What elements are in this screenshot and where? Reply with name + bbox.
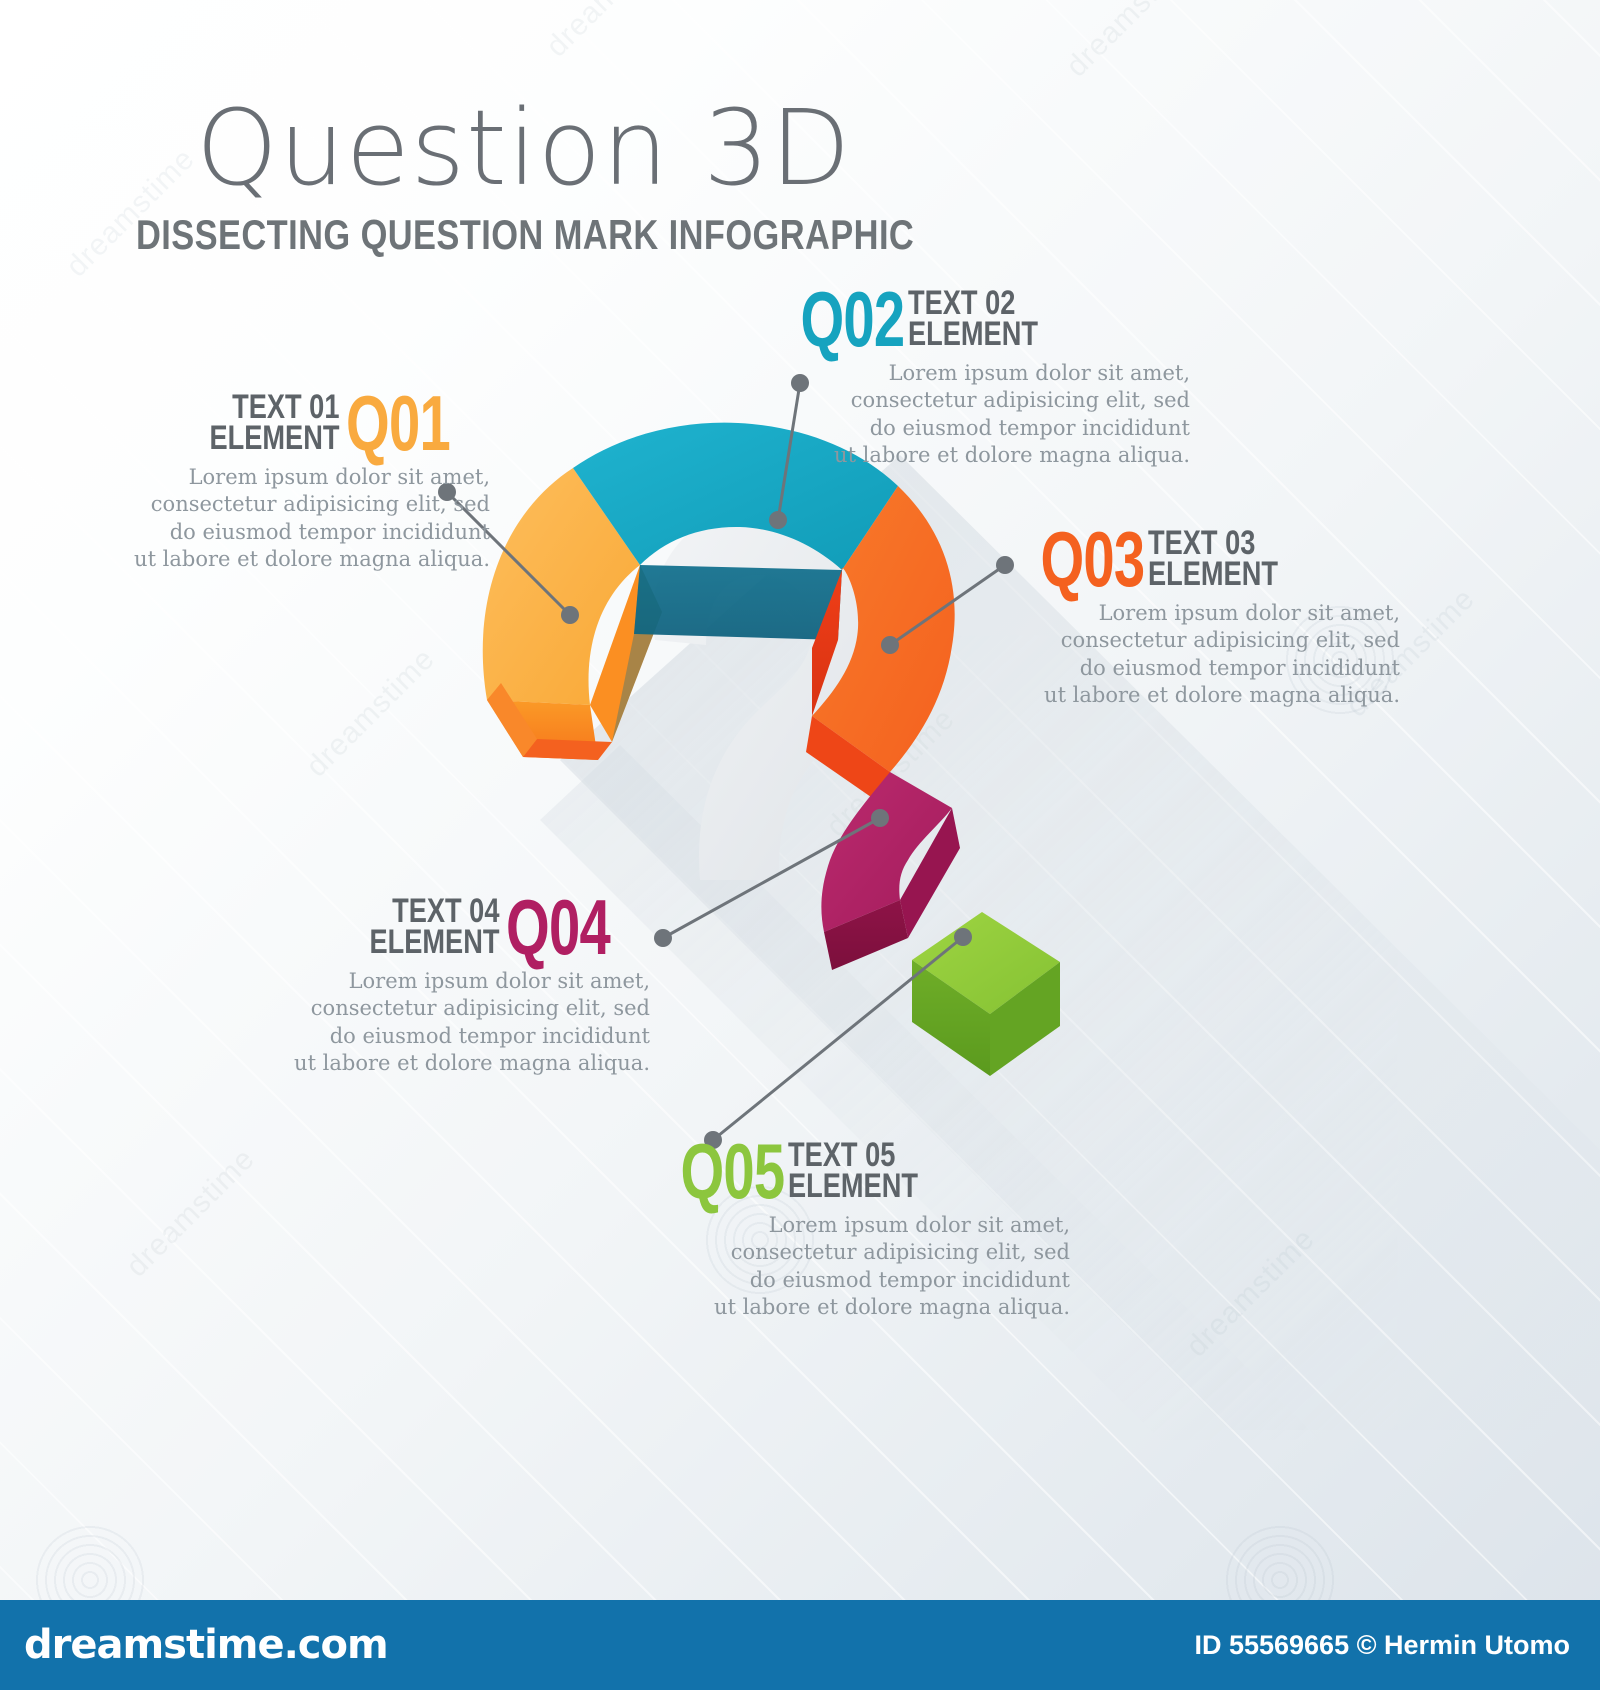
callout-q03-label-line2: ELEMENT bbox=[1148, 559, 1278, 590]
callout-q02-body-line: do eiusmod tempor incididunt bbox=[760, 415, 1190, 442]
callout-q04-body-line: Lorem ipsum dolor sit amet, bbox=[230, 968, 650, 995]
infographic-canvas: dreamstime dreamstime dreamstime dreamst… bbox=[0, 0, 1600, 1690]
connector-dot-q01-target bbox=[561, 606, 579, 624]
callout-q02-body-line: consectetur adipisicing elit, sed bbox=[760, 387, 1190, 414]
connector-dot-q03-target bbox=[881, 636, 899, 654]
callout-q01-body-line: do eiusmod tempor incididunt bbox=[60, 519, 490, 546]
callout-q03[interactable]: Q03 TEXT 03 ELEMENT Lorem ipsum dolor si… bbox=[1000, 528, 1400, 709]
callout-q02-label: TEXT 02 ELEMENT bbox=[908, 288, 1070, 351]
header: Question 3D DISSECTING QUESTION MARK INF… bbox=[196, 96, 1085, 256]
callout-q01-label: TEXT 01 ELEMENT bbox=[177, 392, 339, 455]
callout-q03-body-line: consectetur adipisicing elit, sed bbox=[1000, 627, 1400, 654]
callout-q05-head: Q05 TEXT 05 ELEMENT bbox=[640, 1140, 1070, 1204]
callout-q02-body-line: Lorem ipsum dolor sit amet, bbox=[760, 360, 1190, 387]
callout-q03-body-line: ut labore et dolore magna aliqua. bbox=[1000, 682, 1400, 709]
image-credit: ID 55569665 © Hermin Utomo bbox=[1194, 1630, 1570, 1661]
callout-q04-body-line: consectetur adipisicing elit, sed bbox=[230, 995, 650, 1022]
callout-q03-body-line: Lorem ipsum dolor sit amet, bbox=[1000, 600, 1400, 627]
callout-q04-number: Q04 bbox=[506, 896, 610, 960]
connector-q05 bbox=[713, 937, 963, 1140]
callout-q02-head: Q02 TEXT 02 ELEMENT bbox=[760, 288, 1190, 352]
callout-q01-label-line2: ELEMENT bbox=[210, 423, 340, 454]
callout-q05-body-line: consectetur adipisicing elit, sed bbox=[640, 1239, 1070, 1266]
callout-q02-body-line: ut labore et dolore magna aliqua. bbox=[760, 442, 1190, 469]
callout-q02-label-line2: ELEMENT bbox=[908, 319, 1038, 350]
callout-q01-body: Lorem ipsum dolor sit amet, consectetur … bbox=[60, 464, 490, 573]
footer-bar: dreamstime.com ID 55569665 © Hermin Utom… bbox=[0, 1600, 1600, 1690]
callout-q02-body: Lorem ipsum dolor sit amet, consectetur … bbox=[760, 360, 1190, 469]
callout-q04-label: TEXT 04 ELEMENT bbox=[337, 896, 499, 959]
callout-q03-body: Lorem ipsum dolor sit amet, consectetur … bbox=[1000, 600, 1400, 709]
callout-q01[interactable]: TEXT 01 ELEMENT Q01 Lorem ipsum dolor si… bbox=[60, 392, 490, 573]
callout-q04-body-line: do eiusmod tempor incididunt bbox=[230, 1023, 650, 1050]
callout-q05-body-line: Lorem ipsum dolor sit amet, bbox=[640, 1212, 1070, 1239]
connector-dot-q04-origin bbox=[654, 929, 672, 947]
callout-q02[interactable]: Q02 TEXT 02 ELEMENT Lorem ipsum dolor si… bbox=[760, 288, 1190, 469]
connector-dot-q02-target bbox=[769, 511, 787, 529]
connector-dot-q05-target bbox=[954, 928, 972, 946]
callout-q03-number: Q03 bbox=[1040, 528, 1144, 592]
callout-q04-body-line: ut labore et dolore magna aliqua. bbox=[230, 1050, 650, 1077]
callout-q01-number: Q01 bbox=[346, 392, 450, 456]
callout-q05-body: Lorem ipsum dolor sit amet, consectetur … bbox=[640, 1212, 1070, 1321]
callout-q01-body-line: ut labore et dolore magna aliqua. bbox=[60, 546, 490, 573]
callout-q05-label: TEXT 05 ELEMENT bbox=[788, 1140, 950, 1203]
page-title: Question 3D bbox=[196, 96, 1085, 200]
callout-q05-body-line: ut labore et dolore magna aliqua. bbox=[640, 1294, 1070, 1321]
callout-q05-body-line: do eiusmod tempor incididunt bbox=[640, 1267, 1070, 1294]
callout-q04[interactable]: TEXT 04 ELEMENT Q04 Lorem ipsum dolor si… bbox=[230, 896, 650, 1077]
page-subtitle: DISSECTING QUESTION MARK INFOGRAPHIC bbox=[136, 214, 914, 256]
callout-q03-body-line: do eiusmod tempor incididunt bbox=[1000, 655, 1400, 682]
callout-q03-label: TEXT 03 ELEMENT bbox=[1148, 528, 1310, 591]
dreamstime-logo[interactable]: dreamstime.com bbox=[24, 1622, 388, 1668]
connector-q04 bbox=[663, 818, 880, 938]
callout-q01-body-line: Lorem ipsum dolor sit amet, bbox=[60, 464, 490, 491]
callout-q01-body-line: consectetur adipisicing elit, sed bbox=[60, 491, 490, 518]
callout-q04-body: Lorem ipsum dolor sit amet, consectetur … bbox=[230, 968, 650, 1077]
connector-dot-q04-target bbox=[871, 809, 889, 827]
callout-q02-number: Q02 bbox=[800, 288, 904, 352]
callout-q05-number: Q05 bbox=[680, 1140, 784, 1204]
callout-q04-label-line2: ELEMENT bbox=[370, 927, 500, 958]
callout-q05-label-line2: ELEMENT bbox=[788, 1171, 918, 1202]
connector-q03 bbox=[890, 565, 1005, 645]
callout-q05[interactable]: Q05 TEXT 05 ELEMENT Lorem ipsum dolor si… bbox=[640, 1140, 1070, 1321]
callout-q01-head: TEXT 01 ELEMENT Q01 bbox=[60, 392, 490, 456]
callout-q04-head: TEXT 04 ELEMENT Q04 bbox=[230, 896, 650, 960]
callout-q03-head: Q03 TEXT 03 ELEMENT bbox=[1000, 528, 1400, 592]
